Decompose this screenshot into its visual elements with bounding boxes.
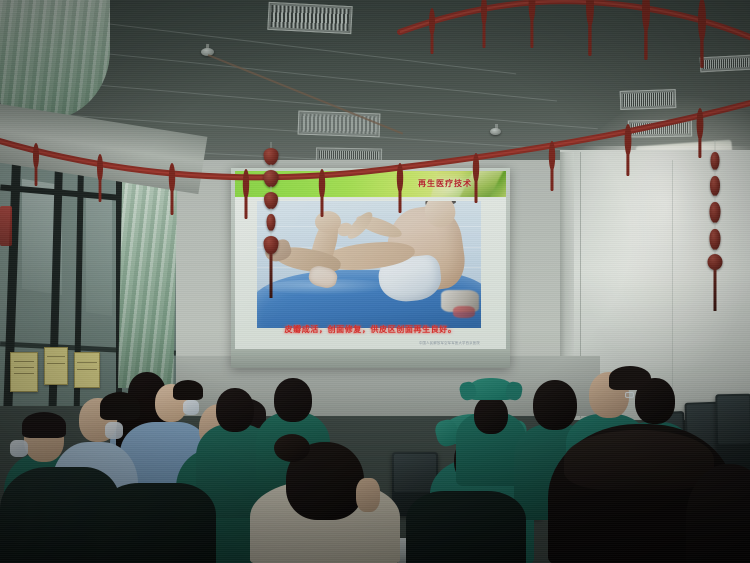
hair-bun bbox=[274, 434, 310, 462]
foreground-shoulder-center bbox=[406, 491, 526, 563]
face-mask bbox=[10, 440, 28, 457]
charm-bead bbox=[710, 202, 721, 223]
slide-title: 再生医疗技术 bbox=[418, 178, 472, 189]
window-reflection bbox=[86, 192, 112, 316]
hvac-vent-right bbox=[620, 89, 677, 110]
hair bbox=[686, 464, 750, 563]
gourd-bead bbox=[264, 170, 279, 187]
attendee-bun-center bbox=[250, 430, 400, 563]
smoke-detector-right bbox=[490, 128, 501, 135]
charm-bead bbox=[711, 152, 720, 170]
charm-bead bbox=[710, 176, 720, 196]
wall-notice-1 bbox=[10, 352, 38, 392]
hvac-vent-left bbox=[267, 2, 352, 34]
presentation-room-photo: 再生医疗技术 bbox=[0, 0, 750, 563]
face-mask bbox=[105, 422, 123, 439]
slide-caption: 皮瓣成活，创面修复，供皮区创面再生良好。 bbox=[257, 324, 484, 335]
clinical-photo bbox=[257, 201, 481, 328]
corridor-red-sign bbox=[0, 206, 12, 246]
gourd-bead bbox=[267, 214, 276, 231]
hanging-gourd-string-left bbox=[262, 142, 280, 312]
gourd-bead bbox=[264, 148, 279, 165]
hvac-vent-center bbox=[298, 111, 381, 138]
screen-bottom-bar bbox=[231, 350, 510, 368]
wall-notice-3 bbox=[74, 352, 100, 388]
hvac-vent-far-right bbox=[628, 119, 692, 137]
hair bbox=[100, 392, 140, 420]
gourd-bead bbox=[264, 236, 279, 254]
foreground-shoulder-left2 bbox=[96, 483, 216, 563]
charm-bead bbox=[710, 229, 721, 250]
hanging-charm-string-right bbox=[706, 140, 724, 320]
background-clutter-red bbox=[453, 306, 475, 318]
attendee-darkhair-corner bbox=[686, 464, 750, 563]
hvac-vent-slim bbox=[700, 55, 750, 73]
wall-notice-2 bbox=[44, 347, 68, 385]
patient-knee bbox=[315, 211, 341, 233]
ear-neck bbox=[356, 478, 380, 512]
gourd-bead bbox=[264, 192, 278, 209]
charm-medallion bbox=[708, 254, 723, 270]
slide-watermark: 中国人民解放军空军军医大学西京医院 bbox=[419, 340, 480, 345]
